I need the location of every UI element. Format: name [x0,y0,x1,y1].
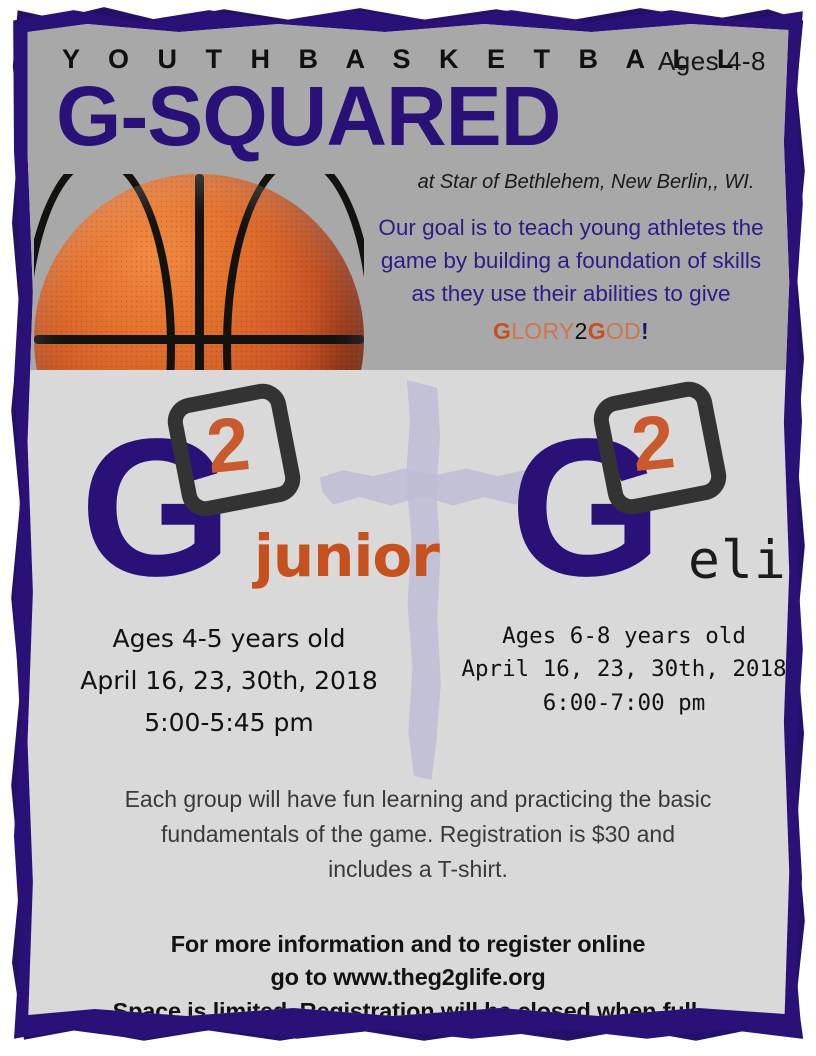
junior-dates: April 16, 23, 30th, 2018 [54,660,404,702]
footer-line-1: For more information and to register onl… [58,928,758,961]
registration-footer: For more information and to register onl… [58,928,758,1022]
ages-badge: Ages 4-8 [658,46,766,77]
mission-line-1: Our goal is to teach young athletes the [378,215,763,240]
logo-exponent-two: 2 [628,404,678,484]
mission-line-3: as they use their abilities to give [412,281,731,306]
details-line-2: fundamentals of the game. Registration i… [161,821,675,847]
poster-content-panel: Y O U T H B A S K E T B A L L Ages 4-8 G… [26,22,790,1022]
junior-time: 5:00-5:45 pm [54,702,404,744]
venue-line: at Star of Bethlehem, New Berlin,, WI. [386,171,786,194]
junior-schedule: Ages 4-5 years old April 16, 23, 30th, 2… [54,618,404,744]
details-line-3: includes a T-shirt. [328,856,508,882]
elite-time: 6:00-7:00 pm [454,687,790,720]
elite-schedule: Ages 6-8 years old April 16, 23, 30th, 2… [454,620,790,720]
footer-website[interactable]: go to www.theg2glife.org [58,961,758,994]
glory2god-tagline: GLORY2GOD! [356,315,786,349]
logo-word-junior: junior [254,522,439,590]
basketball-image [34,174,364,370]
details-paragraph: Each group will have fun learning and pr… [86,782,750,887]
logo-exponent-two: 2 [203,406,253,486]
junior-ages: Ages 4-5 years old [54,618,404,660]
mission-statement: Our goal is to teach young athletes the … [356,212,786,348]
tagline-lory: LORY [511,318,574,344]
tagline-od: OD [606,318,641,344]
elite-ages: Ages 6-8 years old [454,620,790,653]
tagline-g-first: G [493,318,511,344]
logo-word-elite: elite [688,530,790,591]
tagline-exclaim: ! [641,318,649,344]
tagline-two: 2 [575,318,588,344]
page-title: G-SQUARED [56,72,560,160]
g2-junior-logo: G 2 junior [64,382,404,612]
g2-elite-logo: G 2 elite [474,382,790,612]
mission-line-2: game by building a foundation of skills [381,248,761,273]
details-line-1: Each group will have fun learning and pr… [125,786,712,812]
flyer-poster: Y O U T H B A S K E T B A L L Ages 4-8 G… [0,0,816,1056]
elite-dates: April 16, 23, 30th, 2018 [454,653,790,686]
tagline-g-second: G [588,318,606,344]
